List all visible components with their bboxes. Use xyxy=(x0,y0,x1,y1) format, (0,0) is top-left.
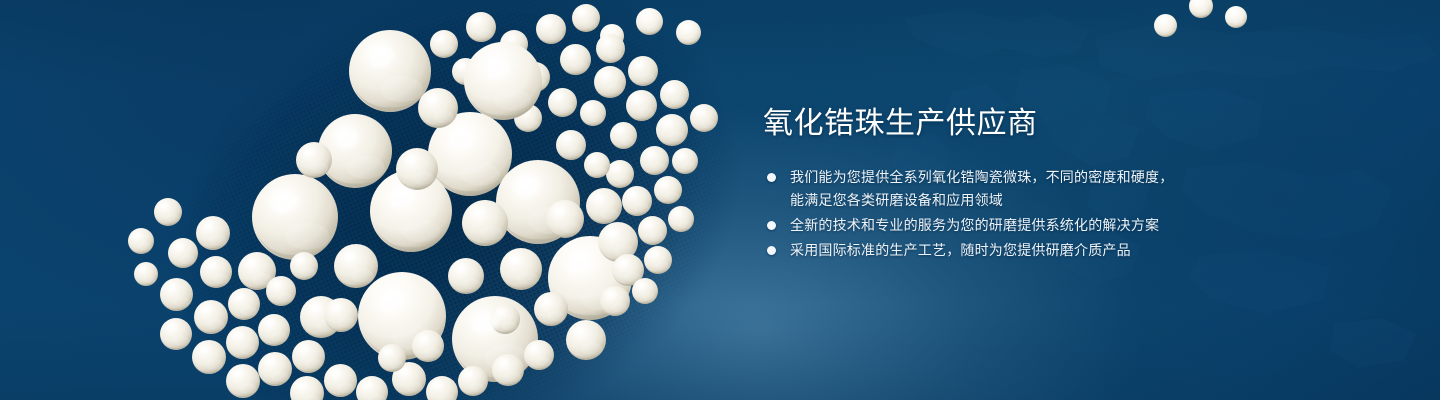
bullet-line: 全新的技术和专业的服务为您的研磨提供系统化的解决方案 xyxy=(790,214,1233,237)
feature-bullet-list: 我们能为您提供全系列氧化锆陶瓷微珠，不同的密度和硬度， 能满足您各类研磨设备和应… xyxy=(763,166,1233,262)
hero-banner: 氧化锆珠生产供应商 我们能为您提供全系列氧化锆陶瓷微珠，不同的密度和硬度， 能满… xyxy=(0,0,1440,400)
list-item: 全新的技术和专业的服务为您的研磨提供系统化的解决方案 xyxy=(763,214,1233,237)
bullet-dot-icon xyxy=(767,173,776,182)
bullet-dot-icon xyxy=(767,246,776,255)
page-title: 氧化锆珠生产供应商 xyxy=(763,104,1233,144)
bullet-line: 采用国际标准的生产工艺，随时为您提供研磨介质产品 xyxy=(790,239,1233,262)
bullet-dot-icon xyxy=(767,221,776,230)
list-item: 我们能为您提供全系列氧化锆陶瓷微珠，不同的密度和硬度， 能满足您各类研磨设备和应… xyxy=(763,166,1233,212)
bullet-line: 我们能为您提供全系列氧化锆陶瓷微珠，不同的密度和硬度， xyxy=(790,166,1233,189)
banner-copy-block: 氧化锆珠生产供应商 我们能为您提供全系列氧化锆陶瓷微珠，不同的密度和硬度， 能满… xyxy=(763,104,1233,264)
list-item: 采用国际标准的生产工艺，随时为您提供研磨介质产品 xyxy=(763,239,1233,262)
bullet-line: 能满足您各类研磨设备和应用领域 xyxy=(790,189,1233,212)
